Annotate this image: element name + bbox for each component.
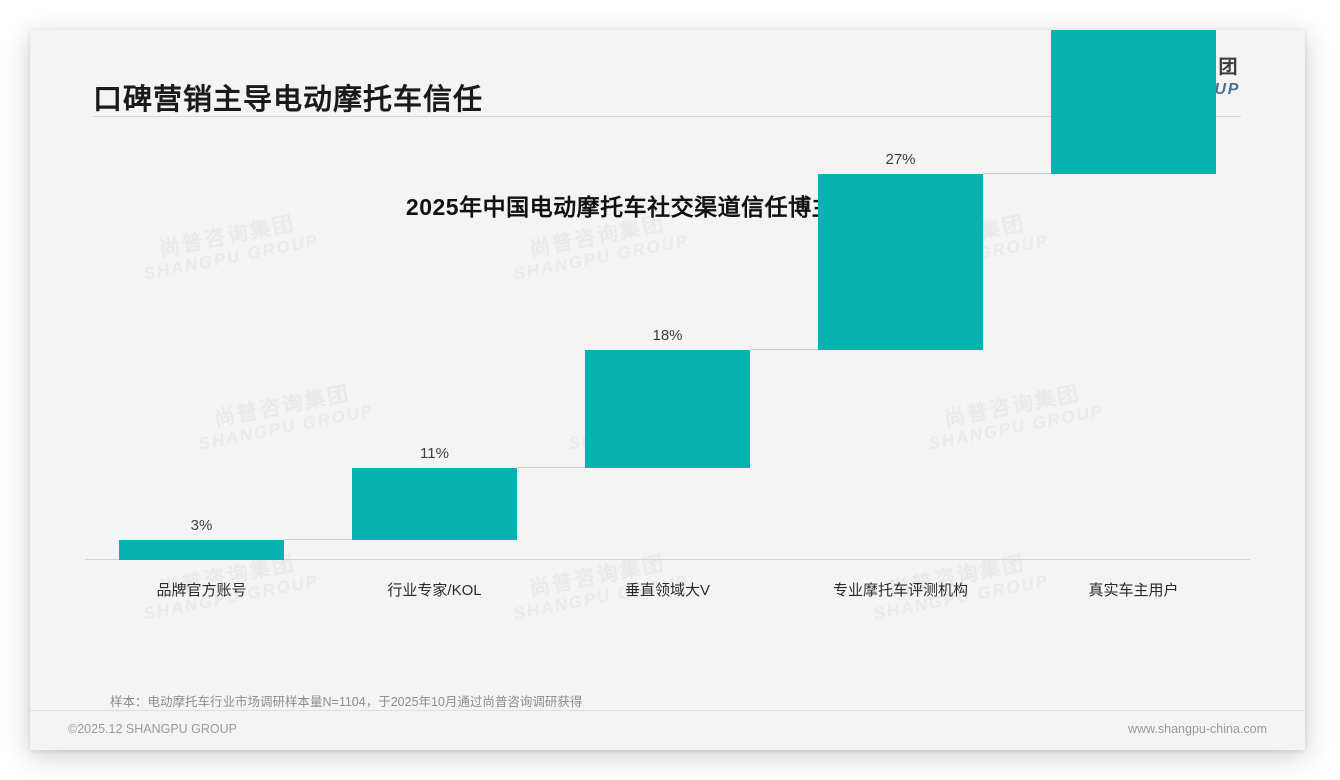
- waterfall-connector: [750, 349, 818, 350]
- website-link[interactable]: www.shangpu-china.com: [1128, 722, 1267, 736]
- waterfall-connector: [983, 173, 1051, 174]
- bar-value-label: 3%: [119, 517, 284, 534]
- waterfall-connector: [517, 467, 585, 468]
- bar-value-label: 27%: [818, 151, 983, 168]
- page-title: 口碑营销主导电动摩托车信任: [93, 76, 483, 118]
- bar-5[interactable]: [1051, 30, 1216, 174]
- chart-plot: 3%品牌官方账号11%行业专家/KOL18%垂直领域大V27%专业摩托车评测机构…: [85, 116, 1250, 676]
- chart-footnote: 样本：电动摩托车行业市场调研样本量N=1104，于2025年10月通过尚普咨询调…: [110, 691, 582, 710]
- bar-1[interactable]: [119, 540, 284, 560]
- slide-card: 口碑营销主导电动摩托车信任 尚普咨询集团 SHANGPU GROUP 尚普咨询集…: [30, 30, 1305, 750]
- bar-3[interactable]: [585, 350, 750, 468]
- copyright-text: ©2025.12 SHANGPU GROUP: [68, 722, 237, 736]
- x-axis-label: 品牌官方账号: [85, 579, 318, 600]
- x-axis-label: 行业专家/KOL: [318, 579, 551, 600]
- slide-footer: ©2025.12 SHANGPU GROUP www.shangpu-china…: [30, 710, 1305, 750]
- bar-4[interactable]: [818, 174, 983, 351]
- waterfall-connector: [284, 539, 352, 540]
- bar-value-label: 18%: [585, 327, 750, 344]
- x-axis-label: 专业摩托车评测机构: [784, 579, 1017, 600]
- bar-value-label: 11%: [352, 445, 517, 462]
- chart-area: 尚普咨询集团SHANGPU GROUP尚普咨询集团SHANGPU GROUP尚普…: [30, 116, 1305, 676]
- x-axis-label: 真实车主用户: [1017, 579, 1250, 600]
- x-axis-label: 垂直领域大V: [551, 579, 784, 600]
- bar-2[interactable]: [352, 468, 517, 540]
